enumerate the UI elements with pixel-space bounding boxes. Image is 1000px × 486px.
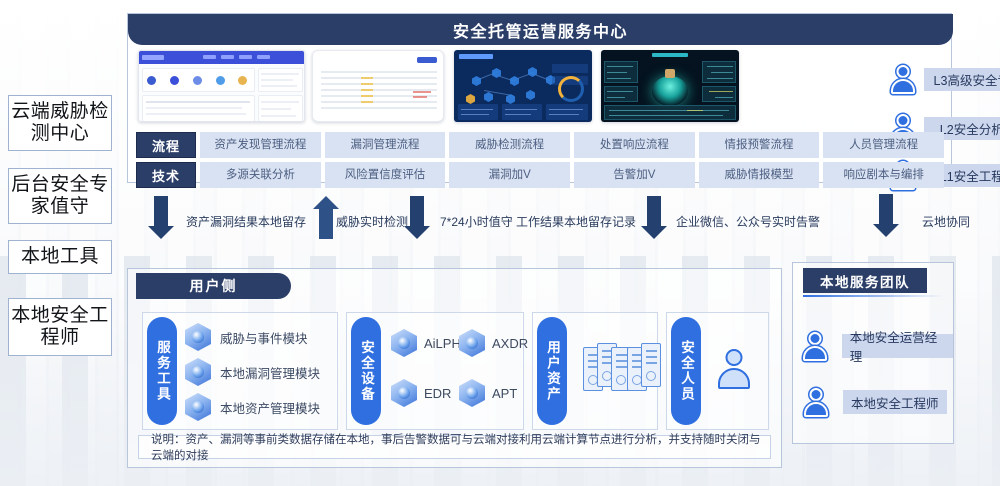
team-member-label: 本地安全运营经理	[842, 334, 953, 358]
team-member-row[interactable]: 本地安全工程师	[803, 387, 947, 417]
person-icon	[717, 349, 751, 389]
expert-label: L3高级安全专家	[924, 68, 1000, 91]
flow-label: 云地协同	[922, 213, 970, 230]
matrix-cell[interactable]: 漏洞加V	[449, 162, 570, 188]
user-side-badge: 用户侧	[136, 273, 291, 299]
matrix-cell[interactable]: 多源关联分析	[200, 162, 321, 188]
matrix-cell[interactable]: 风险置信度评估	[325, 162, 446, 188]
flow-label: 7*24小时值守 工作结果本地留存记录	[440, 213, 636, 230]
list-item-label: 本地漏洞管理模块	[220, 363, 320, 382]
panel-header: 安全托管运营服务中心	[128, 14, 953, 45]
list-item-label: 威胁与事件模块	[220, 328, 308, 347]
list-item[interactable]: EDR	[391, 379, 451, 407]
local-team-badge: 本地服务团队	[803, 268, 927, 293]
flow-label: 企业微信、公众号实时告警	[676, 213, 820, 230]
dashboard-thumbnail-threat-topology[interactable]	[454, 50, 592, 122]
person-icon	[803, 331, 828, 361]
group-security-devices: 安全设备 AiLPHA AXDR EDR APT	[346, 312, 524, 430]
flow-arrow-down-duty	[404, 196, 430, 239]
list-item[interactable]: 本地漏洞管理模块	[185, 358, 320, 386]
cube-icon	[185, 393, 211, 421]
list-item[interactable]: 威胁与事件模块	[185, 323, 308, 351]
sidebar-item-label: 后台安全专家值守	[9, 174, 111, 219]
cube-icon	[459, 379, 485, 407]
sidebar-item-cloud-threat-center[interactable]: 云端威胁检测中心	[8, 95, 112, 151]
matrix-cell[interactable]: 漏洞管理流程	[325, 132, 446, 158]
expert-row-l3[interactable]: L3高级安全专家	[890, 64, 1000, 94]
dashboard-thumbnails	[136, 50, 876, 128]
matrix-cell[interactable]: 告警加V	[574, 162, 695, 188]
person-icon	[890, 64, 916, 94]
group-tab-label: 服务工具	[147, 317, 177, 425]
process-technology-matrix: 流程 资产发现管理流程 漏洞管理流程 威胁检测流程 处置响应流程 情报预警流程 …	[136, 132, 944, 192]
cube-icon	[185, 358, 211, 386]
flow-arrow-down-cloud-local	[873, 194, 899, 237]
footnote: 说明：资产、漏洞等事前类数据存储在本地，事后告警数据可与云端对接利用云端计算节点…	[138, 435, 771, 459]
group-tab-label: 安全人员	[671, 317, 701, 425]
matrix-cell[interactable]: 响应剧本与编排	[823, 162, 944, 188]
group-body: AiLPHA AXDR EDR APT	[381, 313, 523, 429]
divider	[803, 295, 943, 297]
list-item-label: AXDR	[492, 336, 528, 351]
list-item[interactable]: AiLPHA	[391, 329, 470, 357]
flow-label: 资产漏洞结果本地留存	[186, 213, 306, 230]
flow-arrow-down-alert	[641, 196, 667, 239]
local-service-team-panel: 本地服务团队 本地安全运营经理 本地安全工程师	[792, 262, 954, 444]
list-item-label: APT	[492, 386, 517, 401]
list-item[interactable]: APT	[459, 379, 517, 407]
diagram-root: 云端威胁检测中心 后台安全专家值守 本地工具 本地安全工程师 安全托管运营服务中…	[0, 0, 1000, 486]
sidebar-item-label: 云端威胁检测中心	[9, 101, 111, 146]
team-member-row[interactable]: 本地安全运营经理	[803, 331, 953, 361]
matrix-cell[interactable]: 处置响应流程	[574, 132, 695, 158]
thumb-header-bar	[139, 51, 304, 64]
server-icon	[641, 343, 661, 387]
sidebar-item-local-tools[interactable]: 本地工具	[8, 240, 112, 274]
cube-icon	[391, 329, 417, 357]
dashboard-thumbnail-vulnerability-list[interactable]	[312, 50, 444, 122]
dashboard-thumbnail-security-monitor[interactable]	[601, 50, 739, 122]
group-body: 威胁与事件模块 本地漏洞管理模块 本地资产管理模块	[177, 313, 337, 429]
sidebar-item-label: 本地安全工程师	[9, 305, 111, 350]
cube-icon	[185, 323, 211, 351]
matrix-row-header: 技术	[136, 162, 196, 188]
list-item[interactable]: 本地资产管理模块	[185, 393, 320, 421]
matrix-row-technology: 技术 多源关联分析 风险置信度评估 漏洞加V 告警加V 威胁情报模型 响应剧本与…	[136, 162, 944, 188]
cube-icon	[459, 329, 485, 357]
flow-label: 威胁实时检测	[336, 213, 408, 230]
team-member-label: 本地安全工程师	[843, 390, 947, 414]
sidebar-item-label: 本地工具	[21, 246, 99, 268]
group-tab-label: 用户资产	[537, 317, 567, 425]
matrix-row-header: 流程	[136, 132, 196, 158]
cube-icon	[391, 379, 417, 407]
person-icon	[803, 387, 829, 417]
user-side-panel: 用户侧 服务工具 威胁与事件模块 本地漏洞管理模块 本地资产管理模块 安全设备	[127, 268, 782, 468]
group-body	[567, 313, 657, 429]
sidebar-item-local-security-engineer[interactable]: 本地安全工程师	[8, 298, 112, 356]
group-tab-label: 安全设备	[351, 317, 381, 425]
group-user-assets: 用户资产	[532, 312, 658, 430]
group-body	[701, 313, 768, 429]
matrix-cell[interactable]: 资产发现管理流程	[200, 132, 321, 158]
list-item-label: 本地资产管理模块	[220, 398, 320, 417]
list-item-label: EDR	[424, 386, 451, 401]
flow-arrow-down-asset	[148, 196, 174, 239]
matrix-cell[interactable]: 人员管理流程	[823, 132, 944, 158]
group-service-tools: 服务工具 威胁与事件模块 本地漏洞管理模块 本地资产管理模块	[142, 312, 338, 430]
matrix-cell[interactable]: 威胁检测流程	[449, 132, 570, 158]
sidebar-item-backend-expert-duty[interactable]: 后台安全专家值守	[8, 168, 112, 224]
matrix-row-process: 流程 资产发现管理流程 漏洞管理流程 威胁检测流程 处置响应流程 情报预警流程 …	[136, 132, 944, 158]
group-security-staff: 安全人员	[666, 312, 769, 430]
list-item[interactable]: AXDR	[459, 329, 528, 357]
dashboard-thumbnail-asset-console[interactable]	[138, 50, 305, 122]
page-title: 安全托管运营服务中心	[453, 18, 628, 42]
security-operation-center-panel: 安全托管运营服务中心	[127, 13, 952, 183]
matrix-cell[interactable]: 情报预警流程	[699, 132, 820, 158]
matrix-cell[interactable]: 威胁情报模型	[699, 162, 820, 188]
